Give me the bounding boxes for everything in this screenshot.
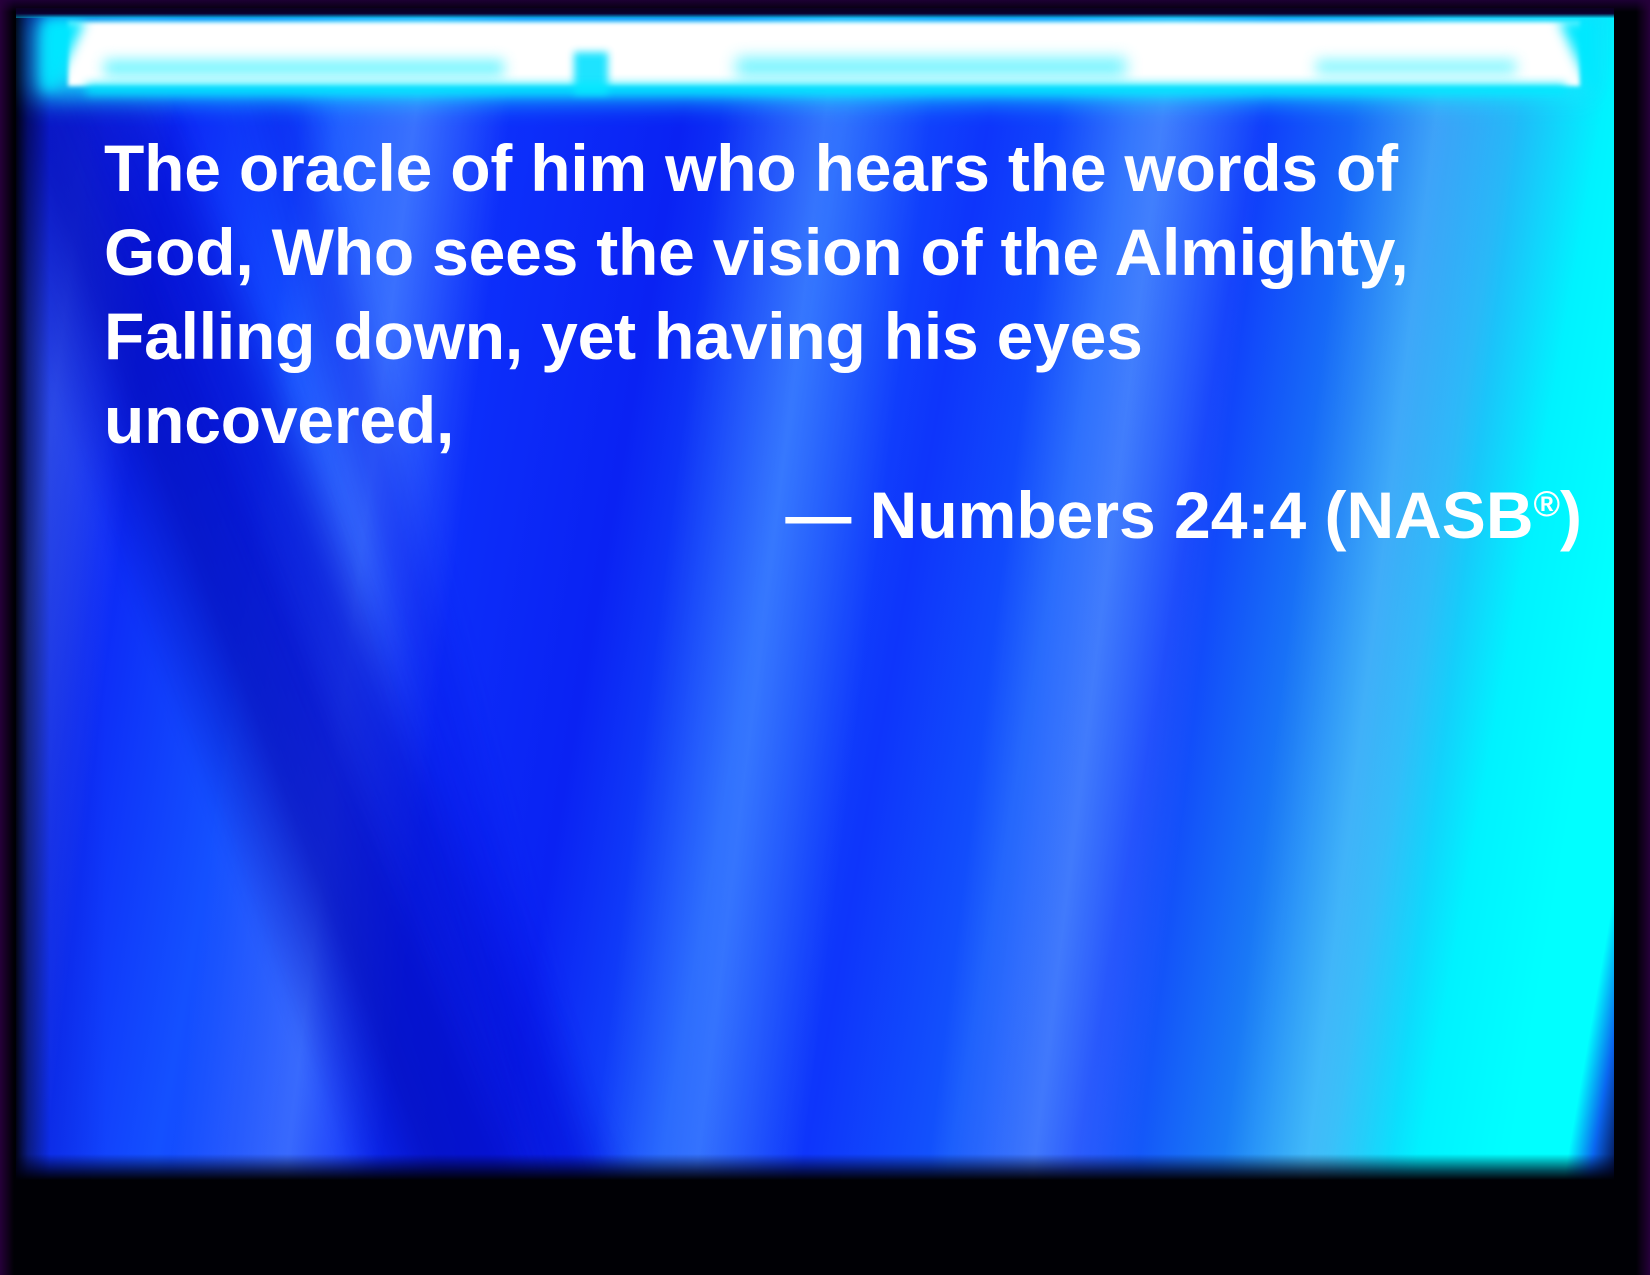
bible-verse-slide: The oracle of him who hears the words of…	[0, 0, 1650, 1275]
banner-white-bar	[68, 22, 1580, 86]
verse-citation: — Numbers 24:4 (NASB®)	[104, 462, 1582, 557]
banner-right-taper	[1528, 20, 1598, 90]
left-edge-shadow	[16, 8, 106, 1180]
verse-line-2: God, Who sees the vision of the Almighty…	[104, 210, 1524, 294]
banner-left-taper	[44, 20, 114, 90]
banner-top-dark-edge	[16, 8, 1614, 18]
verse-line-3: Falling down, yet having his eyes	[104, 294, 1524, 378]
verse-line-1: The oracle of him who hears the words of	[104, 126, 1524, 210]
bottom-edge-shadow	[16, 1154, 1614, 1180]
banner-cyan-underline	[86, 84, 1566, 94]
citation-main-text: — Numbers 24:4 (NASB	[785, 478, 1533, 552]
banner-cyan-smudge-left	[104, 60, 504, 76]
verse-text-block: The oracle of him who hears the words of…	[104, 126, 1524, 462]
registered-trademark-icon: ®	[1533, 483, 1560, 524]
artwork-panel: The oracle of him who hears the words of…	[16, 8, 1614, 1180]
verse-line-4: uncovered,	[104, 378, 1524, 462]
banner-cyan-smudge-center	[736, 58, 1126, 76]
citation-close-paren: )	[1560, 478, 1582, 552]
banner-cyan-smudge-right	[1316, 60, 1516, 74]
